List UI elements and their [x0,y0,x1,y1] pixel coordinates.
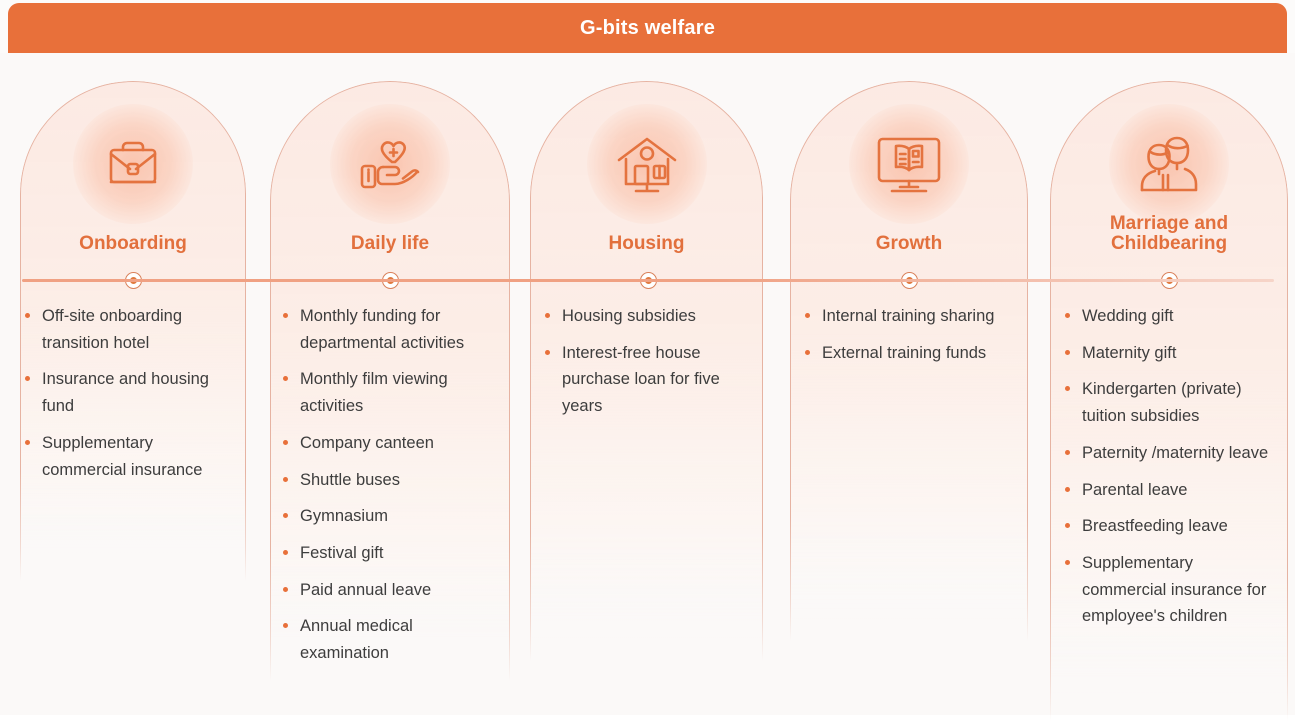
page-title-bar: G-bits welfare [8,3,1287,53]
list-daily-life: Monthly funding for departmental activit… [280,303,492,677]
column-title-housing: Housing [531,234,762,254]
list-item: Internal training sharing [802,303,1010,330]
list-item: Insurance and housing fund [22,366,232,419]
list-item: Festival gift [280,540,492,567]
list-item: External training funds [802,340,1010,367]
list-item: Kindergarten (private) tuition subsidies [1062,376,1277,429]
columns-board: Onboarding Off-site onboarding transitio… [0,53,1295,715]
hand-heart-care-icon [350,124,430,204]
page-title: G-bits welfare [580,17,715,40]
list-item: Supplementary commercial insurance [22,430,232,483]
list-item: Maternity gift [1062,340,1277,367]
list-housing: Housing subsidies Interest-free house pu… [542,303,752,430]
list-item: Housing subsidies [542,303,752,330]
list-item: Company canteen [280,430,492,457]
list-item: Interest-free house purchase loan for fi… [542,340,752,420]
list-item: Off-site onboarding transition hotel [22,303,232,356]
briefcase-icon [93,124,173,204]
list-item: Supplementary commercial insurance for e… [1062,550,1277,630]
list-item: Annual medical examination [280,613,492,666]
column-title-daily-life: Daily life [271,234,509,254]
list-item: Parental leave [1062,477,1277,504]
couple-icon [1129,124,1209,204]
welfare-infographic: G-bits welfare Onboarding Off-site onboa… [0,0,1295,715]
list-item: Monthly funding for departmental activit… [280,303,492,356]
list-item: Paternity /maternity leave [1062,440,1277,467]
list-item: Breastfeeding leave [1062,513,1277,540]
column-title-marriage-childbearing: Marriage and Childbearing [1051,214,1287,254]
column-title-onboarding: Onboarding [21,234,245,254]
list-onboarding: Off-site onboarding transition hotel Ins… [22,303,232,493]
list-item: Paid annual leave [280,577,492,604]
house-icon [607,124,687,204]
column-title-line-2: Childbearing [1057,234,1281,254]
monitor-book-icon [869,124,949,204]
column-title-growth: Growth [791,234,1027,254]
timeline-connector-line [22,279,1274,282]
column-title-line-1: Marriage and [1057,214,1281,234]
list-item: Shuttle buses [280,467,492,494]
list-item: Gymnasium [280,503,492,530]
list-marriage-childbearing: Wedding gift Maternity gift Kindergarten… [1062,303,1277,640]
list-item: Monthly film viewing activities [280,366,492,419]
list-item: Wedding gift [1062,303,1277,330]
list-growth: Internal training sharing External train… [802,303,1010,376]
